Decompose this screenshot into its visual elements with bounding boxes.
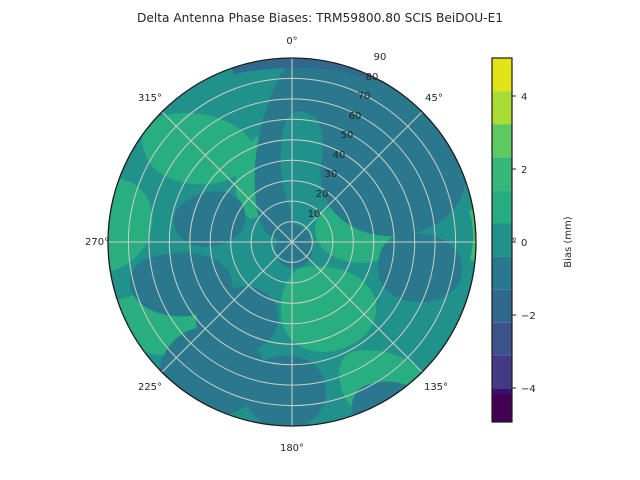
matplotlib-figure: Delta Antenna Phase Biases: TRM59800.80 …	[0, 0, 640, 480]
radial-tick-30: 30	[325, 169, 338, 180]
colorbar-band-1-to-1.5	[492, 190, 512, 223]
azimuth-tick-315: 315°	[138, 93, 162, 104]
azimuth-tick-180: 180°	[280, 443, 304, 454]
colorbar-tick-minus4: −4	[521, 384, 536, 395]
radial-tick-50: 50	[341, 130, 354, 141]
colorbar-band-3-to-4	[492, 91, 512, 124]
colorbar-axis-label: Bias (mm)	[563, 216, 574, 268]
colorbar-band-minus5-to-minus4	[492, 394, 512, 422]
azimuth-tick-225: 225°	[138, 382, 162, 393]
colorbar-band-minus2-to-minus1	[492, 290, 512, 323]
colorbar-band-minus1-to-0	[492, 257, 512, 290]
colorbar-band-minus3-to-minus2	[492, 323, 512, 356]
page-title: Delta Antenna Phase Biases: TRM59800.80 …	[137, 11, 503, 25]
colorbar-tick-4: 4	[521, 92, 527, 103]
colorbar-band-minus4-to-minus3	[492, 356, 512, 389]
angular-gridlines	[108, 58, 476, 426]
radial-tick-20: 20	[316, 189, 329, 200]
colorbar-tick-0: 0	[521, 238, 527, 249]
azimuth-tick-135: 135°	[424, 382, 448, 393]
colorbar-tick-2: 2	[521, 165, 527, 176]
radial-tick-70: 70	[358, 91, 371, 102]
colorbar-tick-minus2: −2	[521, 311, 536, 322]
colorbar-band-4-to-5	[492, 58, 512, 91]
radial-tick-90: 90	[374, 52, 387, 63]
radial-tick-40: 40	[333, 150, 346, 161]
azimuth-tick-0: 0°	[286, 36, 297, 47]
radial-tick-80: 80	[366, 72, 379, 83]
colorbar-band-2-to-3	[492, 124, 512, 157]
radial-tick-60: 60	[349, 111, 362, 122]
azimuth-tick-270: 270°	[85, 237, 109, 248]
colorbar-band-1.5-to-2	[492, 157, 512, 190]
azimuth-tick-45: 45°	[425, 93, 443, 104]
colorbar-band-0-to-1	[492, 224, 512, 257]
radial-tick-10: 10	[308, 209, 321, 220]
